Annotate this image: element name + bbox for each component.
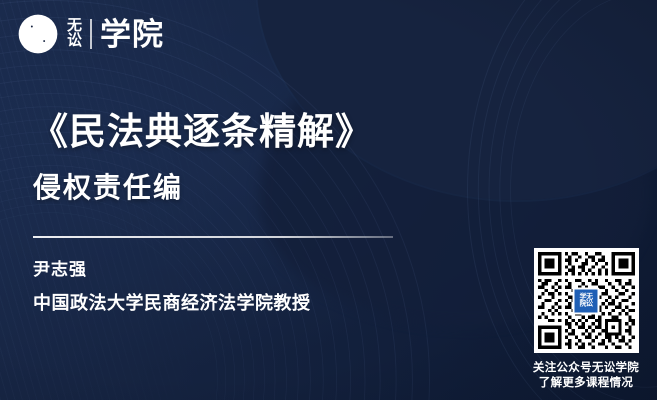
qr-badge-label: 学无 院讼 — [580, 293, 593, 308]
qr-caption-line2: 了解更多课程情况 — [533, 376, 639, 391]
course-subtitle: 侵权责任编 — [33, 166, 183, 206]
course-title: 《民法典逐条精解》 — [31, 112, 373, 153]
brand-char-song: 讼 — [67, 34, 82, 49]
qr-badge-char-wu: 无 — [586, 293, 593, 300]
title-divider-line — [33, 236, 393, 238]
qr-code-block[interactable]: 学无 院讼 关注公众号无讼学院 了解更多课程情况 — [520, 248, 652, 391]
qr-badge-char-song: 讼 — [586, 301, 593, 308]
qr-caption-line1: 关注公众号无讼学院 — [533, 361, 639, 376]
qr-center-badge: 学无 院讼 — [573, 287, 600, 314]
brand-academy-label: 学院 — [100, 19, 164, 50]
presentation-slide: 无 讼 学院 《民法典逐条精解》 侵权责任编 尹志强 中国政法大学民商经济法学院… — [0, 0, 657, 400]
qr-caption: 关注公众号无讼学院 了解更多课程情况 — [533, 361, 639, 391]
brand-wordmark: 无 讼 学院 — [67, 19, 164, 50]
brand-wusong-stack: 无 讼 — [67, 19, 82, 48]
background-blob-top-right — [257, 0, 657, 200]
wusong-cat-circle-icon — [16, 12, 60, 56]
brand-logo: 无 讼 学院 — [16, 12, 164, 56]
brand-divider — [90, 19, 92, 49]
speaker-title: 中国政法大学民商经济法学院教授 — [33, 289, 311, 315]
qr-code-icon[interactable]: 学无 院讼 — [534, 248, 639, 353]
speaker-name: 尹志强 — [33, 255, 87, 280]
